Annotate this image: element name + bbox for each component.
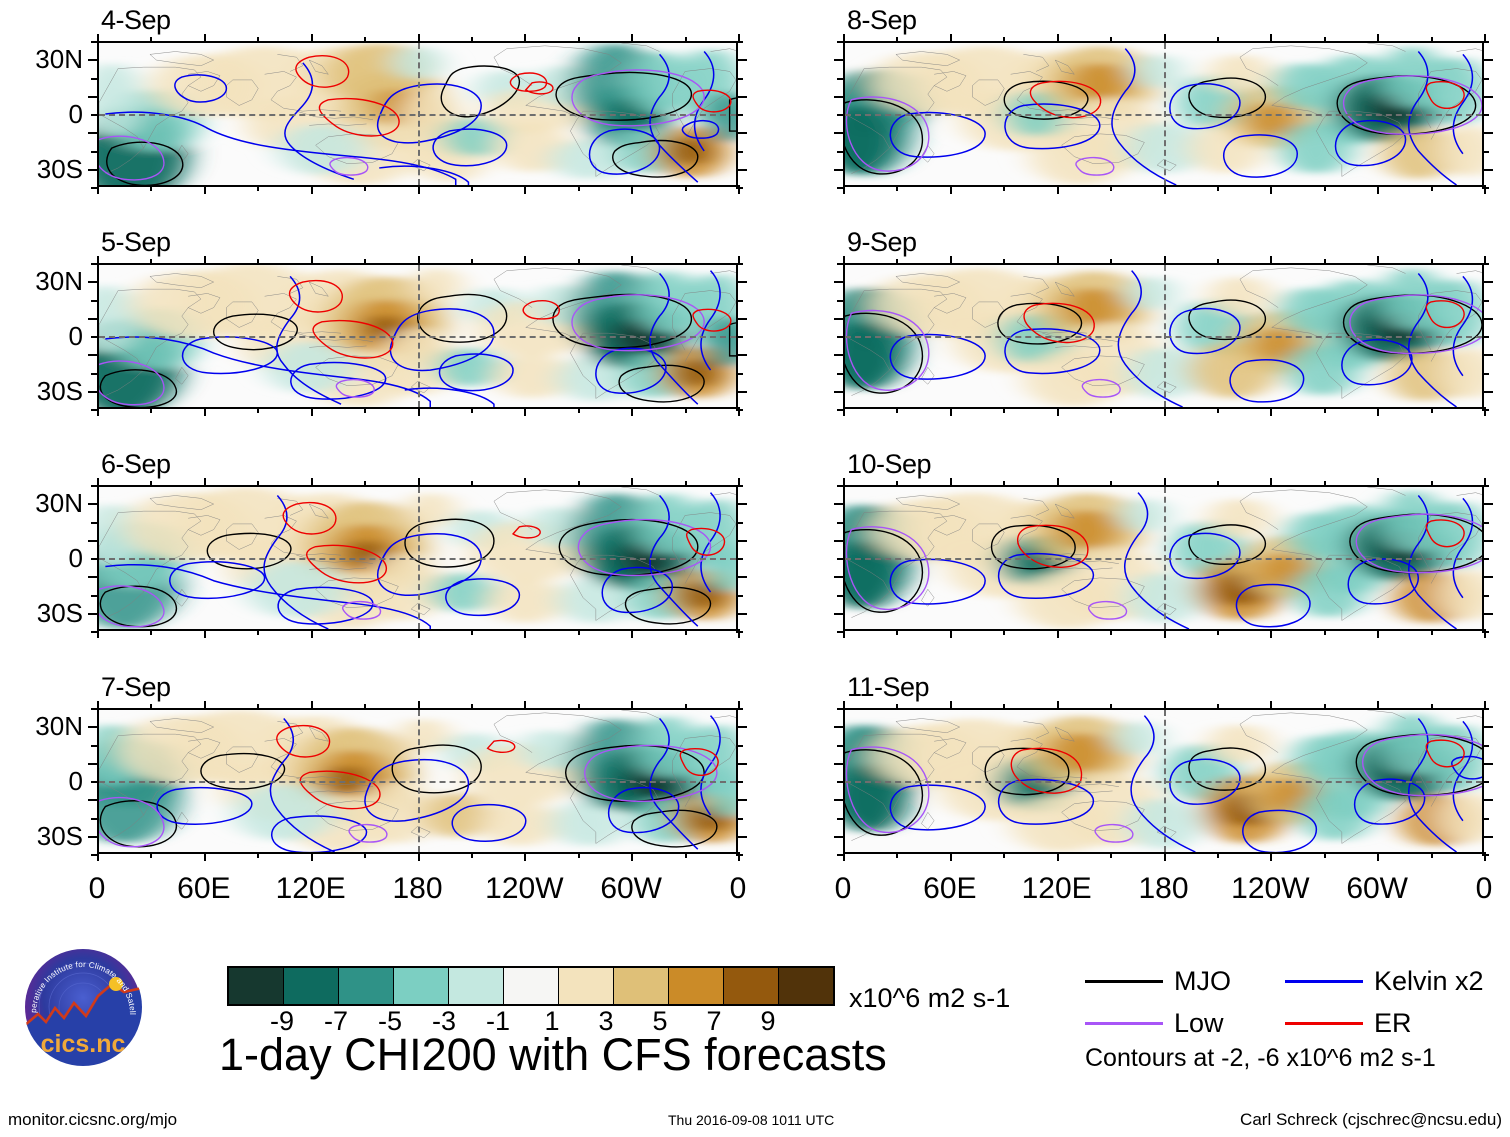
x-axis-tick	[364, 407, 366, 413]
y-axis-tick	[1482, 503, 1493, 505]
x-axis-tick	[364, 704, 366, 710]
x-axis-tick	[896, 704, 898, 710]
y-axis-tick	[834, 763, 845, 765]
y-axis-tick	[1482, 745, 1489, 747]
x-axis-tick	[896, 37, 898, 43]
y-axis-tick	[91, 151, 98, 153]
legend-item-kelvin: Kelvin x2	[1285, 968, 1484, 995]
x-axis-tick	[1270, 478, 1272, 487]
x-axis-tick	[1217, 407, 1219, 413]
x-axis-tick	[471, 629, 473, 635]
y-axis-tick	[736, 354, 747, 356]
x-axis-tick	[1217, 704, 1219, 710]
x-axis-tick	[257, 629, 259, 635]
x-axis-tick	[471, 704, 473, 710]
y-axis-tick	[91, 78, 98, 80]
colorbar-swatch	[669, 968, 724, 1004]
x-axis-tick	[578, 481, 580, 487]
x-axis-tick	[1270, 852, 1272, 861]
contour-note: Contours at -2, -6 x10^6 m2 s-1	[1085, 1046, 1436, 1071]
y-axis-tick	[1482, 336, 1489, 338]
y-axis-tick	[1482, 354, 1493, 356]
y-axis-tick	[736, 59, 747, 61]
dateline	[1164, 43, 1166, 185]
y-axis-tick	[736, 41, 743, 43]
x-axis-tick	[578, 37, 580, 43]
x-axis-tick	[1164, 256, 1166, 265]
y-tick-label: 30S	[0, 156, 83, 182]
y-axis-tick	[736, 799, 747, 801]
x-axis-tick	[1003, 185, 1005, 191]
x-axis-tick	[631, 852, 633, 861]
y-axis-tick	[837, 300, 844, 302]
y-axis-tick	[1482, 300, 1489, 302]
map-panel-8-sep	[843, 41, 1484, 187]
y-tick-label: 30N	[0, 268, 83, 294]
x-axis-tick	[418, 629, 420, 638]
x-axis-tick	[418, 185, 420, 194]
x-axis-tick	[1003, 852, 1005, 858]
y-axis-tick	[837, 151, 844, 153]
x-axis-tick	[1324, 481, 1326, 487]
x-axis-tick	[524, 185, 526, 194]
x-axis-tick	[311, 852, 313, 861]
x-axis-tick	[1270, 256, 1272, 265]
y-axis-tick	[91, 595, 98, 597]
y-tick-label: 30N	[0, 490, 83, 516]
x-axis-tick	[257, 259, 259, 265]
legend-label-kelvin: Kelvin x2	[1374, 968, 1484, 995]
x-axis-tick	[257, 407, 259, 413]
colorbar-swatch	[449, 968, 504, 1004]
colorbar-units: x10^6 m2 s-1	[849, 985, 1010, 1012]
x-axis-tick	[1217, 185, 1219, 191]
y-axis-tick	[88, 281, 99, 283]
y-axis-tick	[834, 799, 845, 801]
y-axis-tick	[91, 558, 98, 560]
x-axis-tick	[257, 185, 259, 191]
x-axis-tick	[631, 185, 633, 194]
x-axis-tick	[578, 704, 580, 710]
x-axis-tick	[364, 37, 366, 43]
x-axis-tick	[150, 37, 152, 43]
x-axis-tick	[1110, 37, 1112, 43]
x-axis-tick	[1377, 478, 1379, 487]
x-axis-tick	[685, 407, 687, 413]
y-axis-tick	[91, 187, 98, 189]
y-axis-tick	[1482, 763, 1493, 765]
x-axis-tick	[418, 256, 420, 265]
y-axis-tick	[837, 409, 844, 411]
y-tick-label: 0	[0, 323, 83, 349]
panel-date-8-sep: 8-Sep	[847, 7, 917, 34]
y-axis-tick	[837, 78, 844, 80]
x-axis-tick	[896, 629, 898, 635]
y-axis-tick	[834, 503, 845, 505]
x-axis-tick	[418, 478, 420, 487]
y-axis-tick	[736, 558, 743, 560]
y-tick-label: 0	[0, 768, 83, 794]
y-axis-tick	[1482, 540, 1493, 542]
x-axis-tick	[1270, 34, 1272, 43]
x-axis-tick	[1217, 481, 1219, 487]
x-axis-tick	[1431, 259, 1433, 265]
x-axis-tick	[578, 259, 580, 265]
y-axis-tick	[1482, 318, 1493, 320]
footer-left[interactable]: monitor.cicsnc.org/mjo	[8, 1110, 177, 1130]
x-axis-tick	[1057, 478, 1059, 487]
y-axis-tick	[1482, 613, 1493, 615]
x-axis-tick	[1217, 629, 1219, 635]
x-axis-tick	[150, 629, 152, 635]
y-axis-tick	[837, 336, 844, 338]
x-axis-tick	[524, 407, 526, 416]
y-axis-tick	[91, 409, 98, 411]
y-axis-tick	[834, 132, 845, 134]
x-axis-tick	[257, 481, 259, 487]
figure-title: 1-day CHI200 with CFS forecasts	[219, 1032, 887, 1077]
x-axis-tick	[524, 852, 526, 861]
x-axis-tick	[1110, 481, 1112, 487]
x-axis-tick	[578, 852, 580, 858]
x-axis-tick	[471, 852, 473, 858]
y-axis-tick	[1482, 263, 1489, 265]
x-axis-tick	[364, 852, 366, 858]
y-axis-tick	[837, 595, 844, 597]
x-axis-tick	[150, 704, 152, 710]
x-axis-tick	[1110, 407, 1112, 413]
y-tick-label: 0	[0, 545, 83, 571]
x-axis-tick	[524, 478, 526, 487]
x-axis-tick	[471, 407, 473, 413]
y-axis-tick	[834, 391, 845, 393]
dateline	[1164, 487, 1166, 629]
x-axis-tick	[1431, 629, 1433, 635]
footer-center: Thu 2016-09-08 1011 UTC	[668, 1112, 834, 1128]
x-axis-tick	[1164, 701, 1166, 710]
y-axis-tick	[736, 373, 743, 375]
x-axis-tick	[950, 701, 952, 710]
x-axis-tick	[896, 852, 898, 858]
panel-date-7-sep: 7-Sep	[101, 674, 171, 701]
x-axis-tick	[150, 852, 152, 858]
x-axis-tick	[685, 481, 687, 487]
y-axis-tick	[91, 263, 98, 265]
y-axis-tick	[837, 41, 844, 43]
y-axis-tick	[736, 96, 747, 98]
x-axis-tick	[1377, 852, 1379, 861]
y-axis-tick	[736, 409, 743, 411]
x-axis-tick	[1324, 852, 1326, 858]
y-axis-tick	[837, 263, 844, 265]
y-axis-tick	[88, 59, 99, 61]
y-axis-tick	[736, 708, 743, 710]
legend-label-mjo: MJO	[1174, 968, 1231, 995]
map-panel-10-sep	[843, 485, 1484, 631]
logo-wordmark: cics.nc	[41, 1030, 126, 1058]
colorbar-swatch	[559, 968, 614, 1004]
dateline	[418, 710, 420, 852]
y-axis-tick	[91, 41, 98, 43]
x-axis-tick	[950, 34, 952, 43]
y-axis-tick	[1482, 708, 1489, 710]
x-tick-label: 180	[392, 874, 442, 904]
er-line-swatch	[1285, 1022, 1363, 1025]
y-axis-tick	[834, 169, 845, 171]
x-tick-label: 60W	[600, 874, 662, 904]
y-axis-tick	[834, 281, 845, 283]
y-axis-tick	[1482, 78, 1489, 80]
x-axis-tick	[950, 407, 952, 416]
x-axis-tick	[204, 478, 206, 487]
x-axis-tick	[524, 701, 526, 710]
x-axis-tick	[631, 34, 633, 43]
x-axis-tick	[631, 478, 633, 487]
y-axis-tick	[837, 485, 844, 487]
y-axis-tick	[91, 373, 98, 375]
x-axis-tick	[1431, 407, 1433, 413]
legend-item-low: Low	[1085, 1010, 1224, 1037]
x-axis-tick	[524, 34, 526, 43]
x-axis-tick	[1324, 37, 1326, 43]
y-axis-tick	[736, 781, 743, 783]
y-axis-tick	[736, 745, 743, 747]
x-axis-tick	[1217, 852, 1219, 858]
y-axis-tick	[736, 836, 747, 838]
x-axis-tick	[311, 478, 313, 487]
x-axis-tick	[150, 481, 152, 487]
y-axis-tick	[1482, 96, 1493, 98]
x-tick-label: 180	[1138, 874, 1188, 904]
x-axis-tick	[950, 185, 952, 194]
y-axis-tick	[91, 818, 98, 820]
x-axis-tick	[311, 407, 313, 416]
x-axis-tick	[471, 481, 473, 487]
x-axis-tick	[896, 481, 898, 487]
x-axis-tick	[685, 37, 687, 43]
y-axis-tick	[736, 613, 747, 615]
y-axis-tick	[837, 818, 844, 820]
y-axis-tick	[736, 300, 743, 302]
x-axis-tick	[1164, 185, 1166, 194]
y-axis-tick	[1482, 391, 1493, 393]
y-axis-tick	[1482, 799, 1493, 801]
y-axis-tick	[88, 169, 99, 171]
x-axis-tick	[257, 704, 259, 710]
x-axis-tick	[1110, 259, 1112, 265]
y-axis-tick	[736, 540, 747, 542]
y-tick-label: 30N	[0, 713, 83, 739]
x-axis-tick	[1431, 704, 1433, 710]
panel-date-5-sep: 5-Sep	[101, 229, 171, 256]
x-axis-tick	[364, 185, 366, 191]
x-tick-label: 120W	[1231, 874, 1309, 904]
x-axis-tick	[204, 852, 206, 861]
legend-item-mjo: MJO	[1085, 968, 1231, 995]
y-axis-tick	[88, 354, 99, 356]
dateline	[1164, 710, 1166, 852]
y-axis-tick	[88, 726, 99, 728]
y-axis-tick	[1482, 522, 1489, 524]
x-axis-tick	[471, 259, 473, 265]
x-axis-tick	[1110, 629, 1112, 635]
x-axis-tick	[950, 256, 952, 265]
x-axis-tick	[631, 629, 633, 638]
cics-nc-logo-icon: cics.nc Cooperative Institute for Climat…	[24, 948, 142, 1066]
map-panel-11-sep	[843, 708, 1484, 854]
x-axis-tick	[418, 852, 420, 861]
y-axis-tick	[1482, 114, 1489, 116]
x-axis-tick	[418, 701, 420, 710]
x-axis-tick	[311, 34, 313, 43]
x-axis-tick	[1057, 852, 1059, 861]
x-axis-tick	[896, 185, 898, 191]
x-axis-tick	[1057, 629, 1059, 638]
y-axis-tick	[1482, 576, 1493, 578]
x-tick-label: 0	[89, 874, 106, 904]
x-axis-tick	[1164, 852, 1166, 861]
cics-nc-logo: cics.nc Cooperative Institute for Climat…	[24, 948, 142, 1066]
x-axis-tick	[1057, 407, 1059, 416]
x-axis-tick	[896, 259, 898, 265]
x-tick-label: 0	[1476, 874, 1493, 904]
colorbar-swatch	[614, 968, 669, 1004]
dateline	[418, 265, 420, 407]
x-axis-tick	[204, 256, 206, 265]
y-axis-tick	[736, 169, 747, 171]
y-axis-tick	[736, 281, 747, 283]
y-axis-tick	[837, 854, 844, 856]
x-axis-tick	[524, 629, 526, 638]
y-axis-tick	[736, 336, 743, 338]
y-axis-tick	[88, 836, 99, 838]
y-axis-tick	[837, 708, 844, 710]
y-axis-tick	[736, 763, 747, 765]
x-axis-tick	[418, 407, 420, 416]
y-axis-tick	[736, 854, 743, 856]
y-axis-tick	[1482, 818, 1489, 820]
map-panel-7-sep	[97, 708, 738, 854]
x-axis-tick	[204, 701, 206, 710]
x-axis-tick	[1431, 37, 1433, 43]
y-axis-tick	[736, 631, 743, 633]
y-tick-label: 30N	[0, 46, 83, 72]
x-axis-tick	[1110, 852, 1112, 858]
x-axis-tick	[150, 407, 152, 413]
legend-item-er: ER	[1285, 1010, 1412, 1037]
x-tick-label: 60E	[923, 874, 976, 904]
y-axis-tick	[834, 726, 845, 728]
x-axis-tick	[150, 259, 152, 265]
y-axis-tick	[736, 187, 743, 189]
x-axis-tick	[1217, 37, 1219, 43]
y-axis-tick	[91, 336, 98, 338]
x-axis-tick	[1003, 629, 1005, 635]
x-axis-tick	[1377, 701, 1379, 710]
y-axis-tick	[91, 781, 98, 783]
footer-right[interactable]: Carl Schreck (cjschrec@ncsu.edu)	[1240, 1110, 1502, 1130]
y-axis-tick	[1482, 485, 1489, 487]
map-panel-6-sep	[97, 485, 738, 631]
y-tick-label: 30S	[0, 823, 83, 849]
y-axis-tick	[736, 522, 743, 524]
colorbar-swatch	[504, 968, 559, 1004]
x-axis-tick	[631, 701, 633, 710]
colorbar-swatch	[779, 968, 833, 1004]
y-axis-tick	[1482, 409, 1489, 411]
y-axis-tick	[91, 854, 98, 856]
x-axis-tick	[524, 256, 526, 265]
y-axis-tick	[736, 132, 747, 134]
y-axis-tick	[837, 187, 844, 189]
x-axis-tick	[311, 185, 313, 194]
x-axis-tick	[950, 478, 952, 487]
x-axis-tick	[1164, 407, 1166, 416]
y-tick-label: 0	[0, 101, 83, 127]
x-axis-tick	[1057, 185, 1059, 194]
x-axis-tick	[311, 629, 313, 638]
x-axis-tick	[1324, 407, 1326, 413]
x-axis-tick	[204, 34, 206, 43]
y-axis-tick	[736, 818, 743, 820]
y-axis-tick	[88, 799, 99, 801]
legend-label-er: ER	[1374, 1010, 1412, 1037]
x-axis-tick	[896, 407, 898, 413]
dateline	[418, 487, 420, 629]
panel-date-4-sep: 4-Sep	[101, 7, 171, 34]
low-line-swatch	[1085, 1022, 1163, 1025]
y-axis-tick	[91, 114, 98, 116]
panel-date-11-sep: 11-Sep	[847, 674, 929, 701]
x-axis-tick	[471, 37, 473, 43]
x-tick-label: 120W	[485, 874, 563, 904]
x-axis-tick	[1164, 478, 1166, 487]
map-panel-9-sep	[843, 263, 1484, 409]
y-axis-tick	[1482, 151, 1489, 153]
x-axis-tick	[150, 185, 152, 191]
colorbar-swatch	[724, 968, 779, 1004]
x-axis-tick	[1270, 407, 1272, 416]
y-axis-tick	[834, 540, 845, 542]
y-axis-tick	[88, 503, 99, 505]
y-axis-tick	[1482, 631, 1489, 633]
colorbar	[227, 966, 835, 1006]
x-axis-tick	[257, 37, 259, 43]
dateline	[1164, 265, 1166, 407]
y-axis-tick	[736, 318, 747, 320]
x-tick-label: 60E	[177, 874, 230, 904]
x-axis-tick	[1324, 704, 1326, 710]
y-axis-tick	[88, 391, 99, 393]
y-axis-tick	[736, 576, 747, 578]
y-axis-tick	[837, 745, 844, 747]
x-axis-tick	[364, 629, 366, 635]
x-axis-tick	[1377, 256, 1379, 265]
y-axis-tick	[837, 373, 844, 375]
map-panel-4-sep	[97, 41, 738, 187]
panel-date-9-sep: 9-Sep	[847, 229, 917, 256]
x-axis-tick	[1324, 259, 1326, 265]
y-axis-tick	[736, 485, 743, 487]
x-axis-tick	[1003, 37, 1005, 43]
x-axis-tick	[631, 256, 633, 265]
y-axis-tick	[834, 59, 845, 61]
x-axis-tick	[1324, 185, 1326, 191]
x-axis-tick	[204, 407, 206, 416]
x-axis-tick	[1110, 185, 1112, 191]
x-axis-tick	[364, 481, 366, 487]
x-axis-tick	[1377, 185, 1379, 194]
